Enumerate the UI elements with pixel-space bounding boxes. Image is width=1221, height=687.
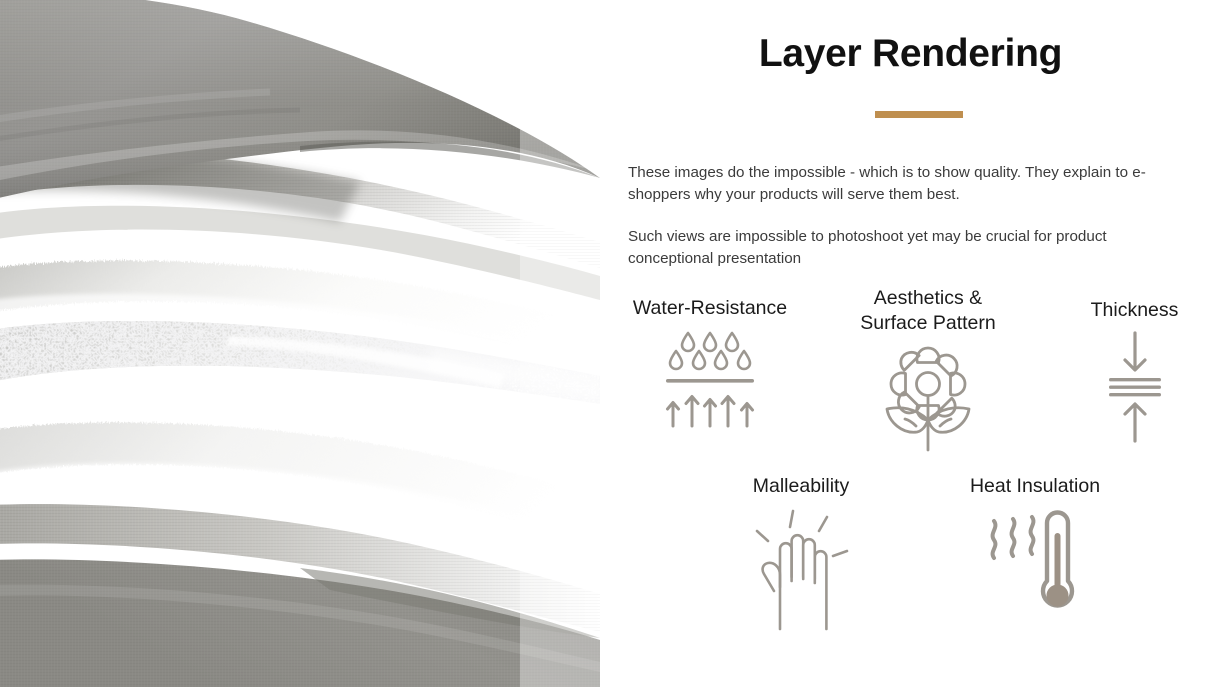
feature-thickness: Thickness — [1052, 298, 1217, 445]
layered-fabric-image — [0, 0, 600, 687]
slide-root: Layer Rendering These images do the impo… — [0, 0, 1221, 687]
feature-label-water-resistance: Water-Resistance — [610, 296, 810, 321]
flower-icon — [828, 342, 1028, 454]
feature-water-resistance: Water-Resistance — [610, 296, 810, 427]
feature-label-thickness: Thickness — [1052, 298, 1217, 323]
content-panel: Layer Rendering These images do the impo… — [600, 0, 1221, 687]
feature-label-malleability: Malleability — [701, 474, 901, 499]
intro-paragraph-1: These images do the impossible - which i… — [628, 162, 1194, 206]
page-title: Layer Rendering — [600, 32, 1221, 77]
open-hand-icon — [701, 505, 901, 633]
thermometer-heat-icon — [935, 505, 1135, 623]
feature-label-aesthetics: Aesthetics & Surface Pattern — [828, 286, 1028, 336]
water-droplets-repel-icon — [610, 327, 810, 427]
thickness-arrows-icon — [1052, 329, 1217, 445]
feature-label-heat-insulation: Heat Insulation — [935, 474, 1135, 499]
feature-malleability: Malleability — [701, 474, 901, 633]
intro-paragraph-2: Such views are impossible to photoshoot … — [628, 226, 1194, 270]
feature-heat-insulation: Heat Insulation — [935, 474, 1135, 623]
title-accent-bar — [875, 111, 963, 118]
feature-aesthetics-surface-pattern: Aesthetics & Surface Pattern — [828, 286, 1028, 454]
